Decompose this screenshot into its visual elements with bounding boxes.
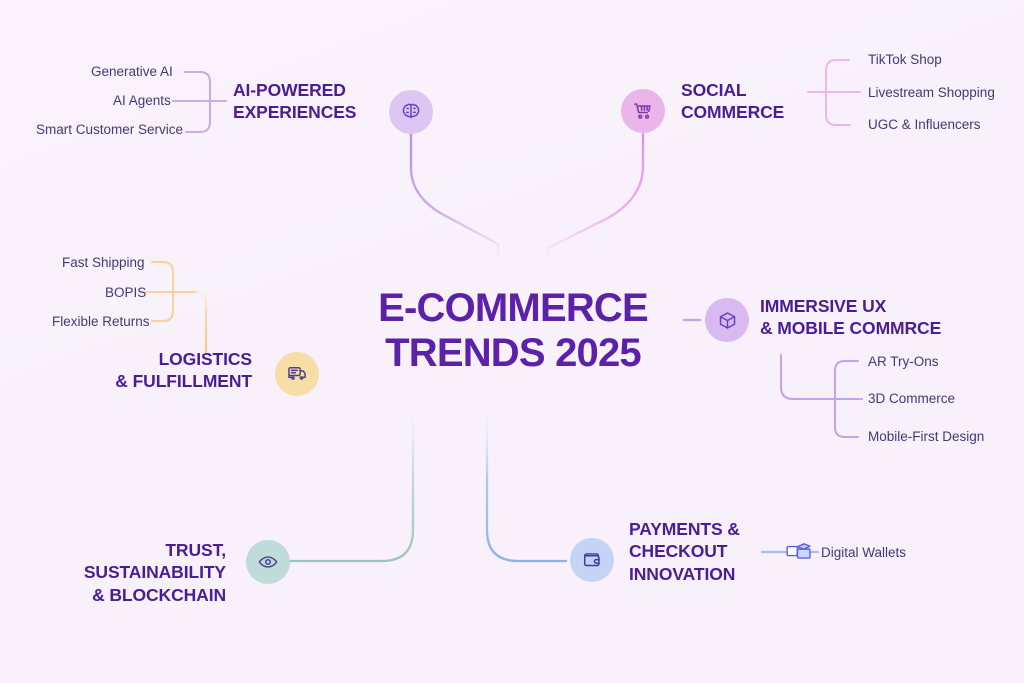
- eye-icon: [257, 551, 279, 573]
- brain-icon: [400, 101, 422, 123]
- leaf-bopis: BOPIS: [105, 285, 146, 301]
- wallet-icon: [581, 549, 603, 571]
- cards-icon: [786, 541, 812, 568]
- cube-icon-badge[interactable]: [705, 298, 749, 342]
- leaf-smart-customer-service: Smart Customer Service: [36, 122, 183, 138]
- shopping-cart-icon: [632, 100, 654, 122]
- leaf-ugc-influencers: UGC & Influencers: [868, 117, 981, 133]
- branch-title-immersive-ux-mobile-commerce: IMMERSIVE UX & MOBILE COMMRCE: [760, 295, 990, 340]
- wallet-icon-badge[interactable]: [570, 538, 614, 582]
- leaf-tiktok-shop: TikTok Shop: [868, 52, 942, 68]
- delivery-truck-icon-badge[interactable]: [275, 352, 319, 396]
- branch-title-ai-powered-experiences: AI-POWERED EXPERIENCES: [233, 79, 383, 124]
- leaf-3d-commerce: 3D Commerce: [868, 391, 955, 407]
- branch-title-trust-sustainability-blockchain: TRUST, SUSTAINABILITY & BLOCKCHAIN: [62, 539, 226, 606]
- leaf-ar-try-ons: AR Try-Ons: [868, 354, 939, 370]
- branch-title-payments-checkout-innovation: PAYMENTS & CHECKOUT INNOVATION: [629, 518, 799, 585]
- leaf-generative-ai: Generative AI: [91, 64, 173, 80]
- delivery-truck-icon: [286, 363, 308, 385]
- eye-icon-badge[interactable]: [246, 540, 290, 584]
- leaf-fast-shipping: Fast Shipping: [62, 255, 145, 271]
- leaf-livestream-shopping: Livestream Shopping: [868, 85, 995, 101]
- cube-icon: [717, 310, 738, 331]
- leaf-ai-agents: AI Agents: [113, 93, 171, 109]
- cards-icon-glyph: [786, 541, 812, 563]
- leaf-mobile-first-design: Mobile-First Design: [868, 429, 984, 445]
- leaf-digital-wallets: Digital Wallets: [821, 545, 906, 561]
- branch-title-social-commerce: SOCIAL COMMERCE: [681, 79, 841, 124]
- brain-icon-badge[interactable]: [389, 90, 433, 134]
- leaf-flexible-returns: Flexible Returns: [52, 314, 150, 330]
- shopping-cart-icon-badge[interactable]: [621, 89, 665, 133]
- branch-title-logistics-fulfillment: LOGISTICS & FULFILLMENT: [100, 348, 252, 393]
- mindmap-canvas: E-COMMERCE TRENDS 2025 AI-POWERED EXPERI…: [0, 0, 1024, 683]
- center-title: E-COMMERCE TRENDS 2025: [333, 286, 693, 376]
